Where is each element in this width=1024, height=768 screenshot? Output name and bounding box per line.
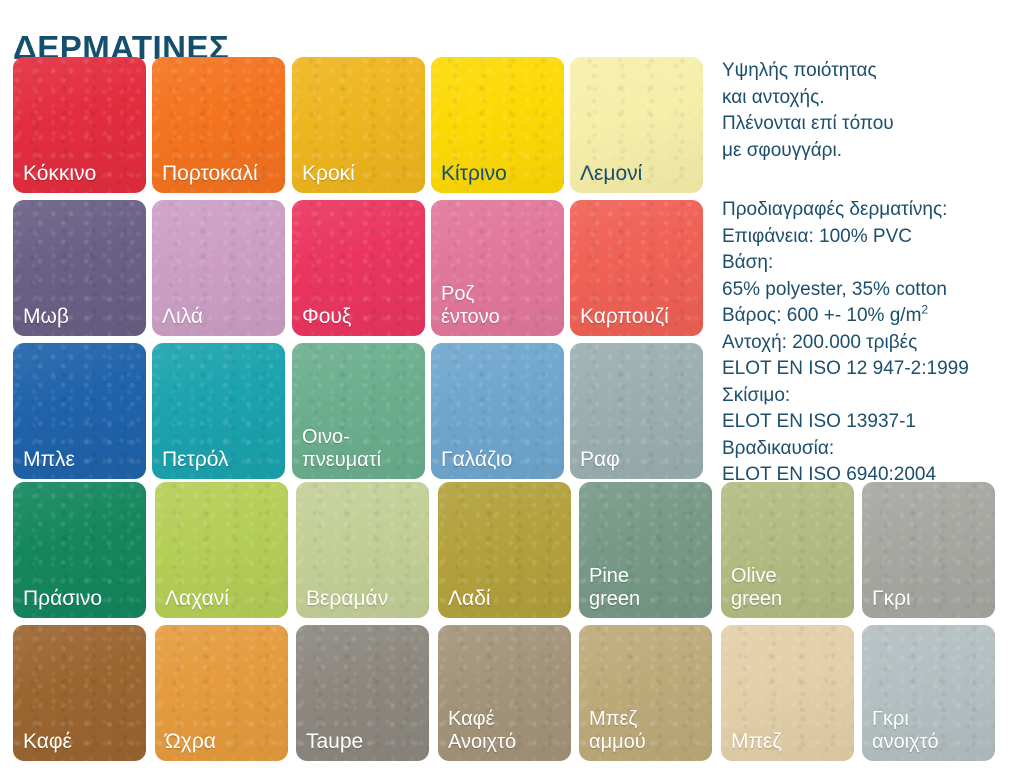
color-swatch[interactable]: Μπεζ αμμού <box>579 625 712 761</box>
specification-line: ELOT EN ISO 12 947-2:1999 <box>722 356 1024 383</box>
color-swatch[interactable]: Βεραμάν <box>296 482 429 618</box>
color-swatch[interactable]: Πορτοκαλί <box>152 57 285 193</box>
color-swatch[interactable]: Μπλε <box>13 343 146 479</box>
swatch-label: Κροκί <box>302 162 419 186</box>
color-swatch[interactable]: Πετρόλ <box>152 343 285 479</box>
color-swatch[interactable]: Μωβ <box>13 200 146 336</box>
swatch-label: Taupe <box>306 730 423 754</box>
swatch-label: Πετρόλ <box>162 448 279 472</box>
color-swatch[interactable]: Πράσινο <box>13 482 146 618</box>
swatch-label: Ροζ έντονο <box>441 283 558 329</box>
color-swatch[interactable]: Ώχρα <box>155 625 288 761</box>
swatch-label: Λαδί <box>448 587 565 611</box>
specifications-text-block: Προδιαγραφές δερματίνης:Επιφάνεια: 100% … <box>722 197 1024 489</box>
swatch-label: Γκρι ανοιχτό <box>872 708 989 754</box>
color-swatch[interactable]: Κόκκινο <box>13 57 146 193</box>
color-swatch[interactable]: Ραφ <box>570 343 703 479</box>
swatch-label: Πορτοκαλί <box>162 162 279 186</box>
color-swatch[interactable]: Pine green <box>579 482 712 618</box>
color-swatch[interactable]: Λεμονί <box>570 57 703 193</box>
swatch-label: Λαχανί <box>165 587 282 611</box>
swatch-label: Μπλε <box>23 448 140 472</box>
swatch-label: Pine green <box>589 565 706 611</box>
specification-line: ELOT EN ISO 13937-1 <box>722 409 1024 436</box>
swatch-label: Οινο- πνευματί <box>302 426 419 472</box>
color-swatch[interactable]: Μπεζ <box>721 625 854 761</box>
specification-line: Επιφάνεια: 100% PVC <box>722 224 1024 251</box>
color-swatch[interactable]: Γαλάζιο <box>431 343 564 479</box>
specification-line: Βάρος: 600 +- 10% g/m2 <box>722 303 1024 330</box>
swatch-label: Καφέ Ανοιχτό <box>448 708 565 754</box>
color-swatch[interactable]: Κίτρινο <box>431 57 564 193</box>
color-swatch[interactable]: Γκρι ανοιχτό <box>862 625 995 761</box>
swatch-label: Καρπουζί <box>580 305 697 329</box>
swatch-label: Καφέ <box>23 730 140 754</box>
swatch-label: Φουξ <box>302 305 419 329</box>
swatch-label: Γαλάζιο <box>441 448 558 472</box>
swatch-label: Λιλά <box>162 305 279 329</box>
swatch-label: Βεραμάν <box>306 587 423 611</box>
color-swatch[interactable]: Καφέ Ανοιχτό <box>438 625 571 761</box>
specification-line: Βραδικαυσία: <box>722 436 1024 463</box>
color-chart-page: ΔΕΡΜΑΤΙΝΕΣ ΚόκκινοΠορτοκαλίΚροκίΚίτρινοΛ… <box>0 0 1024 768</box>
color-swatch[interactable]: Λιλά <box>152 200 285 336</box>
color-swatch[interactable]: Λαδί <box>438 482 571 618</box>
swatch-label: Ραφ <box>580 448 697 472</box>
color-swatch[interactable]: Καφέ <box>13 625 146 761</box>
specification-line: 65% polyester, 35% cotton <box>722 277 1024 304</box>
color-swatch[interactable]: Φουξ <box>292 200 425 336</box>
intro-text-block: Υψηλής ποιότητας και αντοχής. Πλένονται … <box>722 58 1022 164</box>
swatch-label: Λεμονί <box>580 162 697 186</box>
color-swatch[interactable]: Κροκί <box>292 57 425 193</box>
specification-line: Προδιαγραφές δερματίνης: <box>722 197 1024 224</box>
swatch-label: Κίτρινο <box>441 162 558 186</box>
swatch-label: Μωβ <box>23 305 140 329</box>
color-swatch[interactable]: Olive green <box>721 482 854 618</box>
color-swatch[interactable]: Γκρι <box>862 482 995 618</box>
color-swatch[interactable]: Οινο- πνευματί <box>292 343 425 479</box>
swatch-label: Πράσινο <box>23 587 140 611</box>
color-swatch[interactable]: Λαχανί <box>155 482 288 618</box>
color-swatch[interactable]: Taupe <box>296 625 429 761</box>
swatch-label: Γκρι <box>872 587 989 611</box>
swatch-label: Κόκκινο <box>23 162 140 186</box>
swatch-label: Μπεζ <box>731 730 848 754</box>
swatch-label: Μπεζ αμμού <box>589 708 706 754</box>
color-swatch[interactable]: Καρπουζί <box>570 200 703 336</box>
specification-line: Σκίσιμο: <box>722 383 1024 410</box>
swatch-label: Ώχρα <box>165 730 282 754</box>
specification-line: ELOT EN ISO 6940:2004 <box>722 462 1024 489</box>
specification-line: Βάση: <box>722 250 1024 277</box>
specification-line: Αντοχή: 200.000 τριβές <box>722 330 1024 357</box>
swatch-label: Olive green <box>731 565 848 611</box>
color-swatch[interactable]: Ροζ έντονο <box>431 200 564 336</box>
